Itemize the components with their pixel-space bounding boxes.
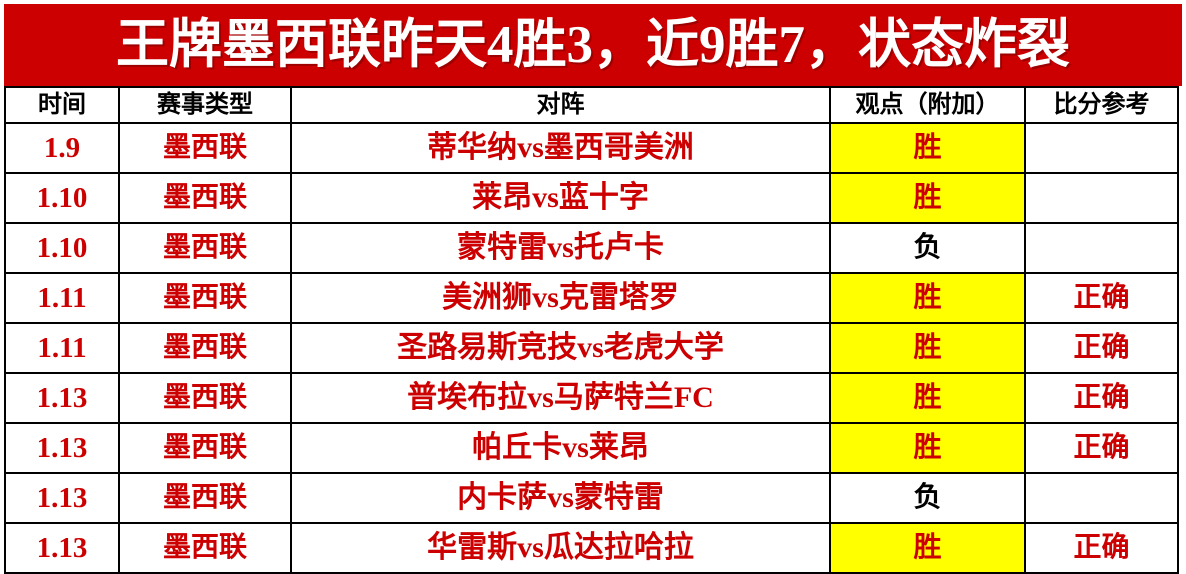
table-head: 时间 赛事类型 对阵 观点（附加） 比分参考 <box>5 87 1178 123</box>
column-header-view: 观点（附加） <box>830 87 1025 123</box>
cell-score <box>1025 223 1178 273</box>
cell-league: 墨西联 <box>119 423 291 473</box>
cell-match: 圣路易斯竞技vs老虎大学 <box>291 323 830 373</box>
cell-time: 1.13 <box>5 523 119 573</box>
title-banner: 王牌墨西联昨天4胜3，近9胜7，状态炸裂 <box>4 4 1182 86</box>
cell-time: 1.13 <box>5 473 119 523</box>
column-header-time: 时间 <box>5 87 119 123</box>
cell-match: 蒂华纳vs墨西哥美洲 <box>291 123 830 173</box>
page-title: 王牌墨西联昨天4胜3，近9胜7，状态炸裂 <box>116 19 1070 72</box>
cell-league: 墨西联 <box>119 123 291 173</box>
cell-match: 普埃布拉vs马萨特兰FC <box>291 373 830 423</box>
cell-view-win: 胜 <box>830 173 1025 223</box>
table-row: 1.9墨西联蒂华纳vs墨西哥美洲胜 <box>5 123 1178 173</box>
cell-score: 正确 <box>1025 373 1178 423</box>
cell-league: 墨西联 <box>119 223 291 273</box>
cell-match: 华雷斯vs瓜达拉哈拉 <box>291 523 830 573</box>
cell-time: 1.13 <box>5 373 119 423</box>
cell-view-win: 胜 <box>830 373 1025 423</box>
cell-league: 墨西联 <box>119 373 291 423</box>
cell-time: 1.10 <box>5 223 119 273</box>
column-header-league: 赛事类型 <box>119 87 291 123</box>
cell-score: 正确 <box>1025 323 1178 373</box>
cell-score <box>1025 473 1178 523</box>
cell-time: 1.11 <box>5 323 119 373</box>
table-row: 1.11墨西联圣路易斯竞技vs老虎大学胜正确 <box>5 323 1178 373</box>
cell-league: 墨西联 <box>119 273 291 323</box>
cell-match: 莱昂vs蓝十字 <box>291 173 830 223</box>
predictions-table: 时间 赛事类型 对阵 观点（附加） 比分参考 1.9墨西联蒂华纳vs墨西哥美洲胜… <box>4 86 1179 574</box>
cell-league: 墨西联 <box>119 523 291 573</box>
cell-view-win: 胜 <box>830 523 1025 573</box>
cell-view-win: 胜 <box>830 123 1025 173</box>
table-body: 1.9墨西联蒂华纳vs墨西哥美洲胜1.10墨西联莱昂vs蓝十字胜1.10墨西联蒙… <box>5 123 1178 573</box>
table-row: 1.11墨西联美洲狮vs克雷塔罗胜正确 <box>5 273 1178 323</box>
cell-score: 正确 <box>1025 423 1178 473</box>
cell-view-win: 胜 <box>830 273 1025 323</box>
cell-time: 1.13 <box>5 423 119 473</box>
cell-match: 帕丘卡vs莱昂 <box>291 423 830 473</box>
cell-score <box>1025 123 1178 173</box>
cell-score <box>1025 173 1178 223</box>
cell-time: 1.10 <box>5 173 119 223</box>
cell-time: 1.9 <box>5 123 119 173</box>
table-row: 1.13墨西联普埃布拉vs马萨特兰FC胜正确 <box>5 373 1178 423</box>
page-root: 王牌墨西联昨天4胜3，近9胜7，状态炸裂 时间 赛事类型 对阵 观点（附加） 比… <box>0 0 1186 562</box>
cell-view-lose: 负 <box>830 473 1025 523</box>
table-header-row: 时间 赛事类型 对阵 观点（附加） 比分参考 <box>5 87 1178 123</box>
cell-time: 1.11 <box>5 273 119 323</box>
cell-view-win: 胜 <box>830 323 1025 373</box>
cell-league: 墨西联 <box>119 323 291 373</box>
cell-league: 墨西联 <box>119 473 291 523</box>
table-row: 1.13墨西联帕丘卡vs莱昂胜正确 <box>5 423 1178 473</box>
cell-match: 蒙特雷vs托卢卡 <box>291 223 830 273</box>
predictions-table-container: 时间 赛事类型 对阵 观点（附加） 比分参考 1.9墨西联蒂华纳vs墨西哥美洲胜… <box>4 86 1182 574</box>
column-header-score: 比分参考 <box>1025 87 1178 123</box>
table-row: 1.10墨西联莱昂vs蓝十字胜 <box>5 173 1178 223</box>
table-row: 1.13墨西联华雷斯vs瓜达拉哈拉胜正确 <box>5 523 1178 573</box>
cell-score: 正确 <box>1025 273 1178 323</box>
cell-match: 内卡萨vs蒙特雷 <box>291 473 830 523</box>
cell-score: 正确 <box>1025 523 1178 573</box>
cell-match: 美洲狮vs克雷塔罗 <box>291 273 830 323</box>
cell-league: 墨西联 <box>119 173 291 223</box>
table-row: 1.10墨西联蒙特雷vs托卢卡负 <box>5 223 1178 273</box>
cell-view-lose: 负 <box>830 223 1025 273</box>
cell-view-win: 胜 <box>830 423 1025 473</box>
table-row: 1.13墨西联内卡萨vs蒙特雷负 <box>5 473 1178 523</box>
column-header-match: 对阵 <box>291 87 830 123</box>
